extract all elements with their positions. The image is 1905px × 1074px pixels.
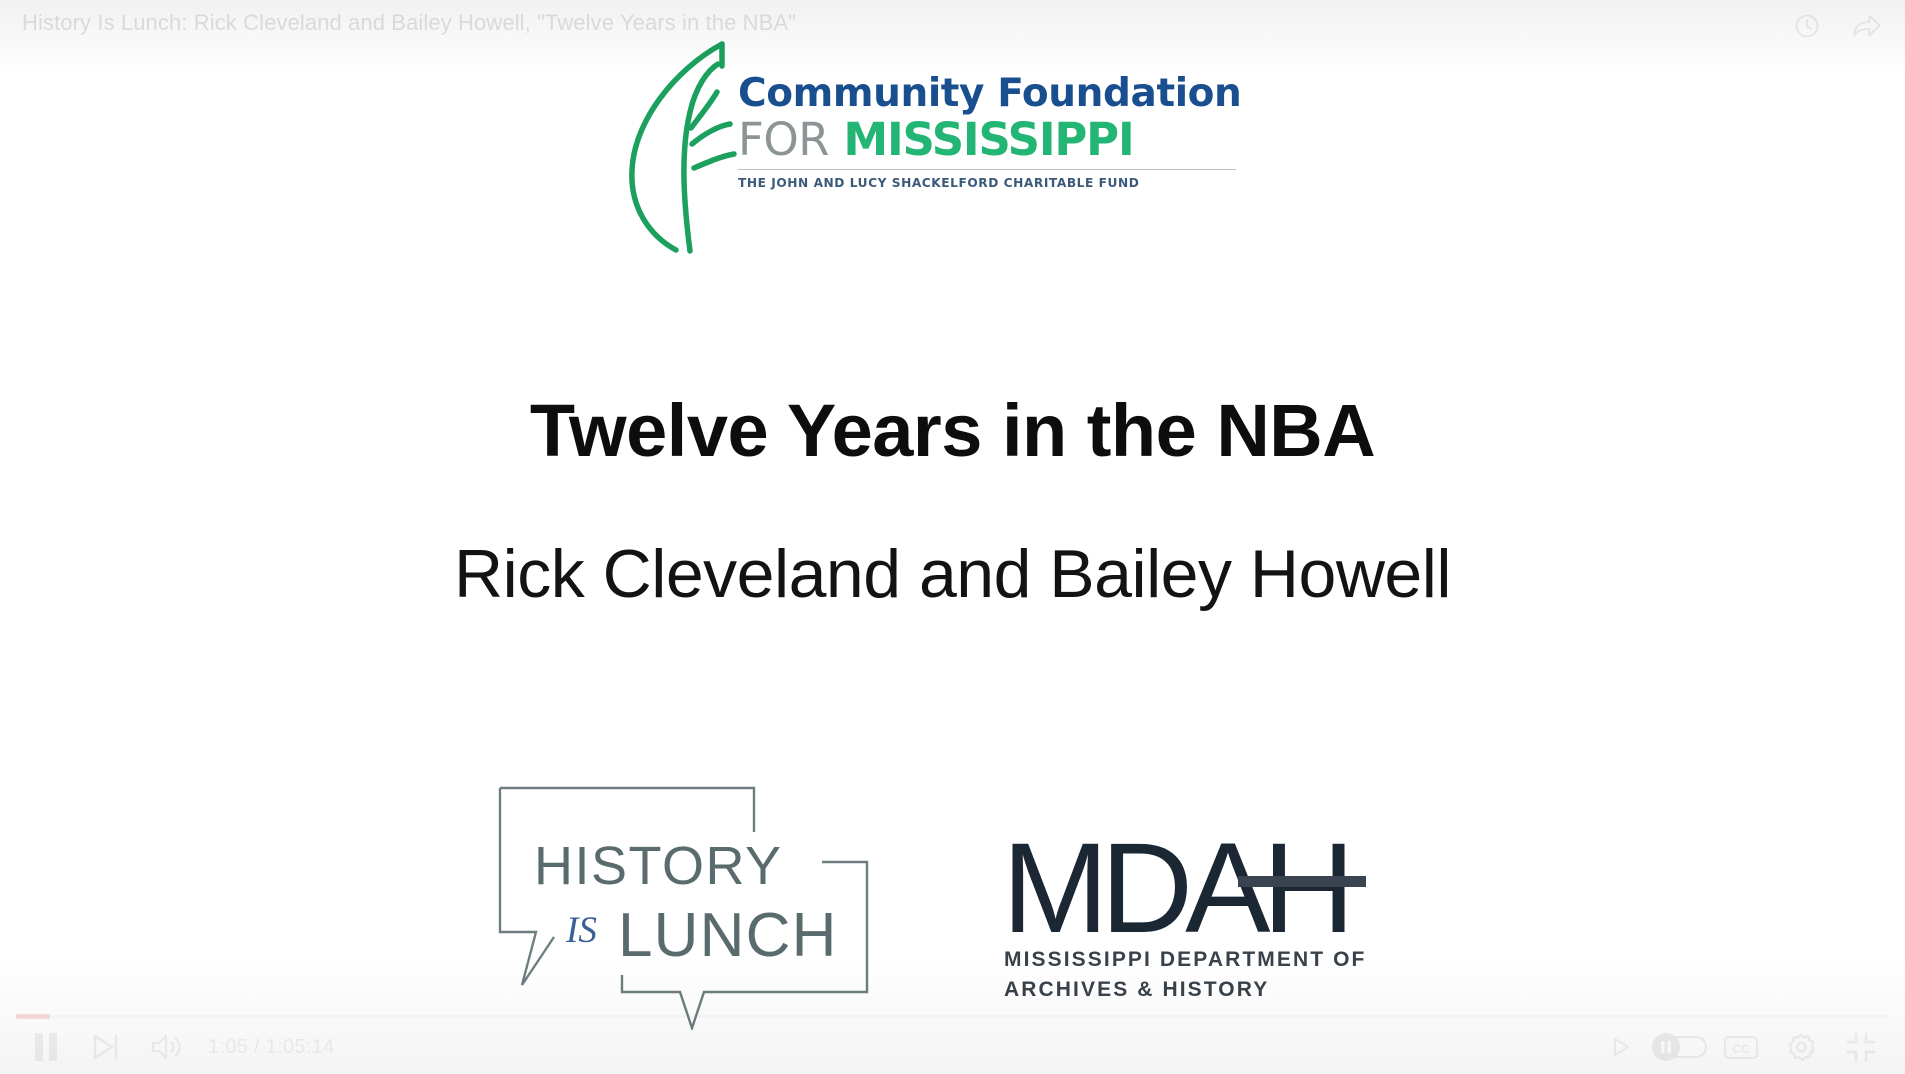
captions-button[interactable]: CC bbox=[1711, 1022, 1771, 1072]
community-foundation-logo: Community Foundation FOR MISSISSIPPI THE… bbox=[618, 32, 1238, 257]
mdah-subtitle-line-2: ARCHIVES & HISTORY bbox=[1004, 978, 1269, 1001]
hil-word-lunch: LUNCH bbox=[618, 901, 838, 970]
time-display: 1:05 / 1:05:14 bbox=[196, 1036, 343, 1059]
volume-button[interactable] bbox=[136, 1022, 196, 1072]
history-is-lunch-logo: HISTORY IS LUNCH bbox=[492, 780, 892, 1030]
cfm-for-word: FOR bbox=[738, 113, 829, 166]
hil-word-history: HISTORY bbox=[534, 836, 783, 896]
slide-subtitle: Rick Cleveland and Bailey Howell bbox=[0, 535, 1905, 613]
cfm-line-3: THE JOHN AND LUCY SHACKELFORD CHARITABLE… bbox=[738, 176, 1238, 190]
community-foundation-logo-text: Community Foundation FOR MISSISSIPPI THE… bbox=[738, 74, 1238, 190]
autoplay-toggle[interactable] bbox=[1647, 1022, 1711, 1072]
player-controls-right: CC bbox=[1595, 1022, 1905, 1072]
pause-button[interactable] bbox=[16, 1022, 76, 1072]
svg-text:CC: CC bbox=[1732, 1042, 1750, 1056]
video-title[interactable]: History Is Lunch: Rick Cleveland and Bai… bbox=[22, 10, 796, 36]
next-video-button[interactable] bbox=[76, 1022, 136, 1072]
clock-icon[interactable] bbox=[1783, 8, 1831, 44]
cfm-divider bbox=[738, 169, 1236, 170]
player-top-actions bbox=[1783, 8, 1891, 44]
cfm-line-1: Community Foundation bbox=[738, 74, 1238, 114]
hil-word-is: IS bbox=[565, 910, 597, 951]
settings-gear-icon[interactable] bbox=[1771, 1022, 1831, 1072]
mdah-logo: MDAH MISSISSIPPI DEPARTMENT OF ARCHIVES … bbox=[1000, 810, 1420, 1010]
player-controls-left: 1:05 / 1:05:14 bbox=[0, 1022, 343, 1072]
slide-title: Twelve Years in the NBA bbox=[0, 388, 1905, 473]
cfm-mississippi-word: MISSISSIPPI bbox=[843, 113, 1133, 166]
progress-played bbox=[16, 1014, 50, 1019]
exit-fullscreen-icon[interactable] bbox=[1831, 1022, 1891, 1072]
progress-track[interactable] bbox=[16, 1015, 1889, 1018]
cfm-line-2: FOR MISSISSIPPI bbox=[738, 116, 1238, 163]
video-slide: Community Foundation FOR MISSISSIPPI THE… bbox=[0, 0, 1905, 1074]
share-icon[interactable] bbox=[1843, 8, 1891, 44]
progress-bar[interactable] bbox=[0, 1014, 1905, 1019]
mdah-acronym: MDAH bbox=[1002, 817, 1347, 960]
player-controls: 1:05 / 1:05:14 CC bbox=[0, 1020, 1905, 1074]
mdah-subtitle-line-1: MISSISSIPPI DEPARTMENT OF bbox=[1004, 948, 1366, 971]
mdah-crossbar bbox=[1238, 876, 1366, 887]
play-small-icon[interactable] bbox=[1595, 1022, 1647, 1072]
leaf-icon bbox=[618, 36, 748, 258]
video-player[interactable]: Community Foundation FOR MISSISSIPPI THE… bbox=[0, 0, 1905, 1074]
